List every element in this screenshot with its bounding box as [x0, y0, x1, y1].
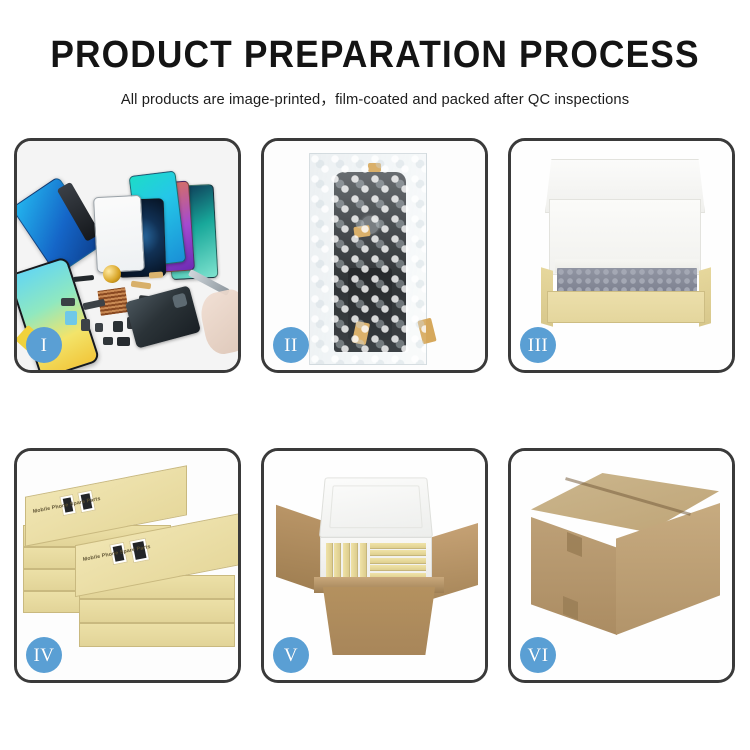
step-badge-1: I	[26, 327, 62, 363]
carton-body	[318, 587, 440, 655]
process-step-panel-3: III	[508, 138, 735, 373]
yellow-box-item	[343, 543, 350, 579]
process-step-panel-5: V	[261, 448, 488, 683]
yellow-box-item	[351, 543, 358, 579]
yellow-box-item	[370, 565, 426, 571]
yellow-box-row-group	[370, 543, 426, 579]
foam-contents	[326, 543, 426, 579]
step-badge-6: VI	[520, 637, 556, 673]
bubble-texture	[310, 154, 426, 364]
stacked-box	[79, 623, 235, 647]
yellow-box-item	[334, 543, 341, 579]
kraft-box-front	[547, 291, 705, 323]
yellow-box-item	[360, 543, 367, 579]
small-part-icon	[81, 319, 90, 331]
bubble-bag	[309, 153, 427, 365]
small-part-icon	[117, 337, 130, 346]
gold-connector-icon	[149, 272, 163, 279]
product-preparation-page: PRODUCT PREPARATION PROCESS All products…	[0, 0, 750, 750]
step-badge-4: IV	[26, 637, 62, 673]
step-badge-2: II	[273, 327, 309, 363]
small-part-icon	[61, 298, 75, 306]
small-screen-icon	[65, 311, 77, 325]
process-steps-grid: I II	[14, 138, 736, 688]
small-part-icon	[103, 337, 113, 345]
stacked-box	[79, 599, 235, 623]
process-step-panel-6: VI	[508, 448, 735, 683]
small-part-icon	[113, 321, 123, 332]
page-header: PRODUCT PREPARATION PROCESS All products…	[0, 0, 750, 109]
yellow-box-item	[370, 543, 426, 549]
foam-lid-icon	[319, 477, 433, 537]
process-step-panel-2: II	[261, 138, 488, 373]
process-step-panel-4: Mobile Phone Spare Parts Mobile Phone Sp…	[14, 448, 241, 683]
step-badge-3: III	[520, 327, 556, 363]
small-part-icon	[95, 323, 103, 332]
yellow-box-item	[326, 543, 333, 579]
page-subtitle: All products are image-printed，film-coat…	[11, 87, 739, 109]
process-step-panel-1: I	[14, 138, 241, 373]
screen-glass-icon	[93, 195, 145, 273]
yellow-box-item	[370, 550, 426, 556]
yellow-box-item	[370, 558, 426, 564]
page-title: PRODUCT PREPARATION PROCESS	[26, 36, 724, 76]
step-badge-5: V	[273, 637, 309, 673]
